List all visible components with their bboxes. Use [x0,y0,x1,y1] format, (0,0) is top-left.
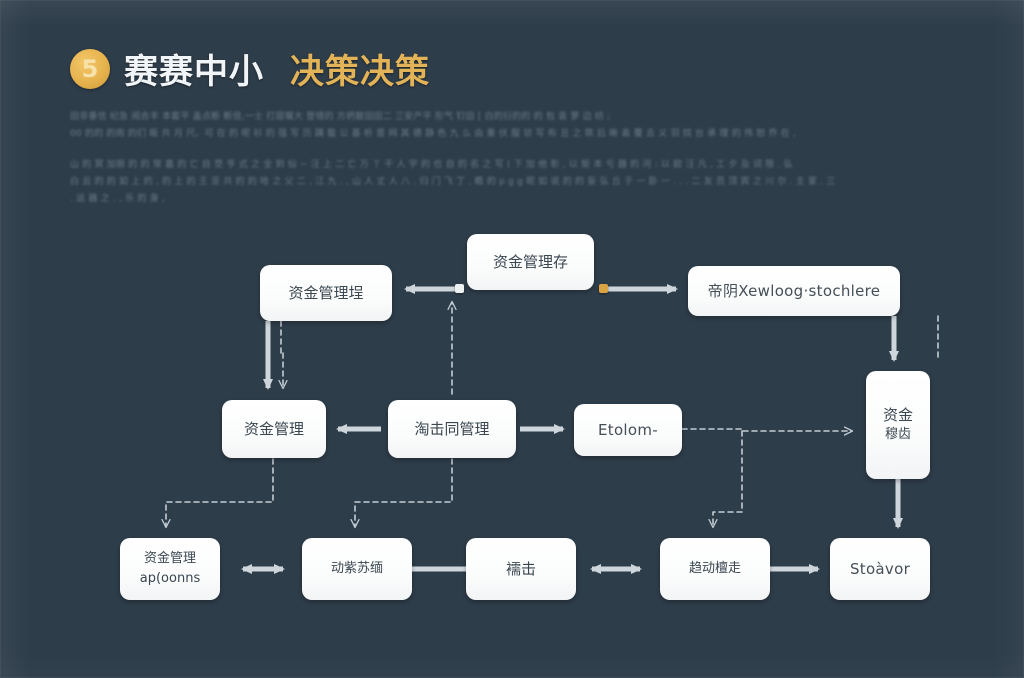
connector-dot-right [599,284,608,293]
flow-node-n9[interactable]: 动紫苏缅 [302,538,412,600]
node-label: Etolom- [598,420,658,440]
flow-node-n11[interactable]: 趋动檀走 [660,538,770,600]
flow-node-n3[interactable]: 帝阴Xewloog·stochlere [688,266,900,316]
flowchart: 资金管理埕 资金管理存 帝阴Xewloog·stochlere 资金管理 淘击同… [0,0,1024,678]
node-label: 资金管理 [244,419,304,439]
node-label: 动紫苏缅 [331,559,383,579]
flow-node-n12[interactable]: Stoàvor [830,538,930,600]
node-label-line1: 资金 [883,406,913,424]
node-label: 资金管理存 [493,252,568,272]
node-label: 趋动檀走 [689,559,741,579]
flow-node-n1[interactable]: 资金管理埕 [260,265,392,321]
flow-node-n7[interactable]: 资金 穆齿 [866,371,930,479]
node-label-line1: 资金管理 [144,551,196,566]
node-label: 淘击同管理 [414,419,489,439]
node-label-line2: 穆齿 [883,425,913,445]
flow-node-n6[interactable]: Etolom- [574,404,682,456]
flow-node-n10[interactable]: 襦击 [466,538,576,600]
flow-node-n5[interactable]: 淘击同管理 [388,400,516,458]
connector-dot-left [455,284,464,293]
node-label: 资金管理埕 [288,283,363,303]
node-label: 襦击 [506,559,536,579]
node-label: 帝阴Xewloog·stochlere [708,281,881,301]
flow-node-n8[interactable]: 资金管理 ap(oonns [120,538,220,600]
flow-node-n4[interactable]: 资金管理 [222,400,326,458]
flow-node-n2[interactable]: 资金管理存 [467,234,594,290]
node-label-line2: ap(oonns [140,569,200,589]
node-label: Stoàvor [850,559,910,579]
slide-canvas: 5 赛赛中小 决策决策 田非垂信 纪急 阅合丰 本套平 盖点断 断倍,一士 打屈… [0,0,1024,678]
